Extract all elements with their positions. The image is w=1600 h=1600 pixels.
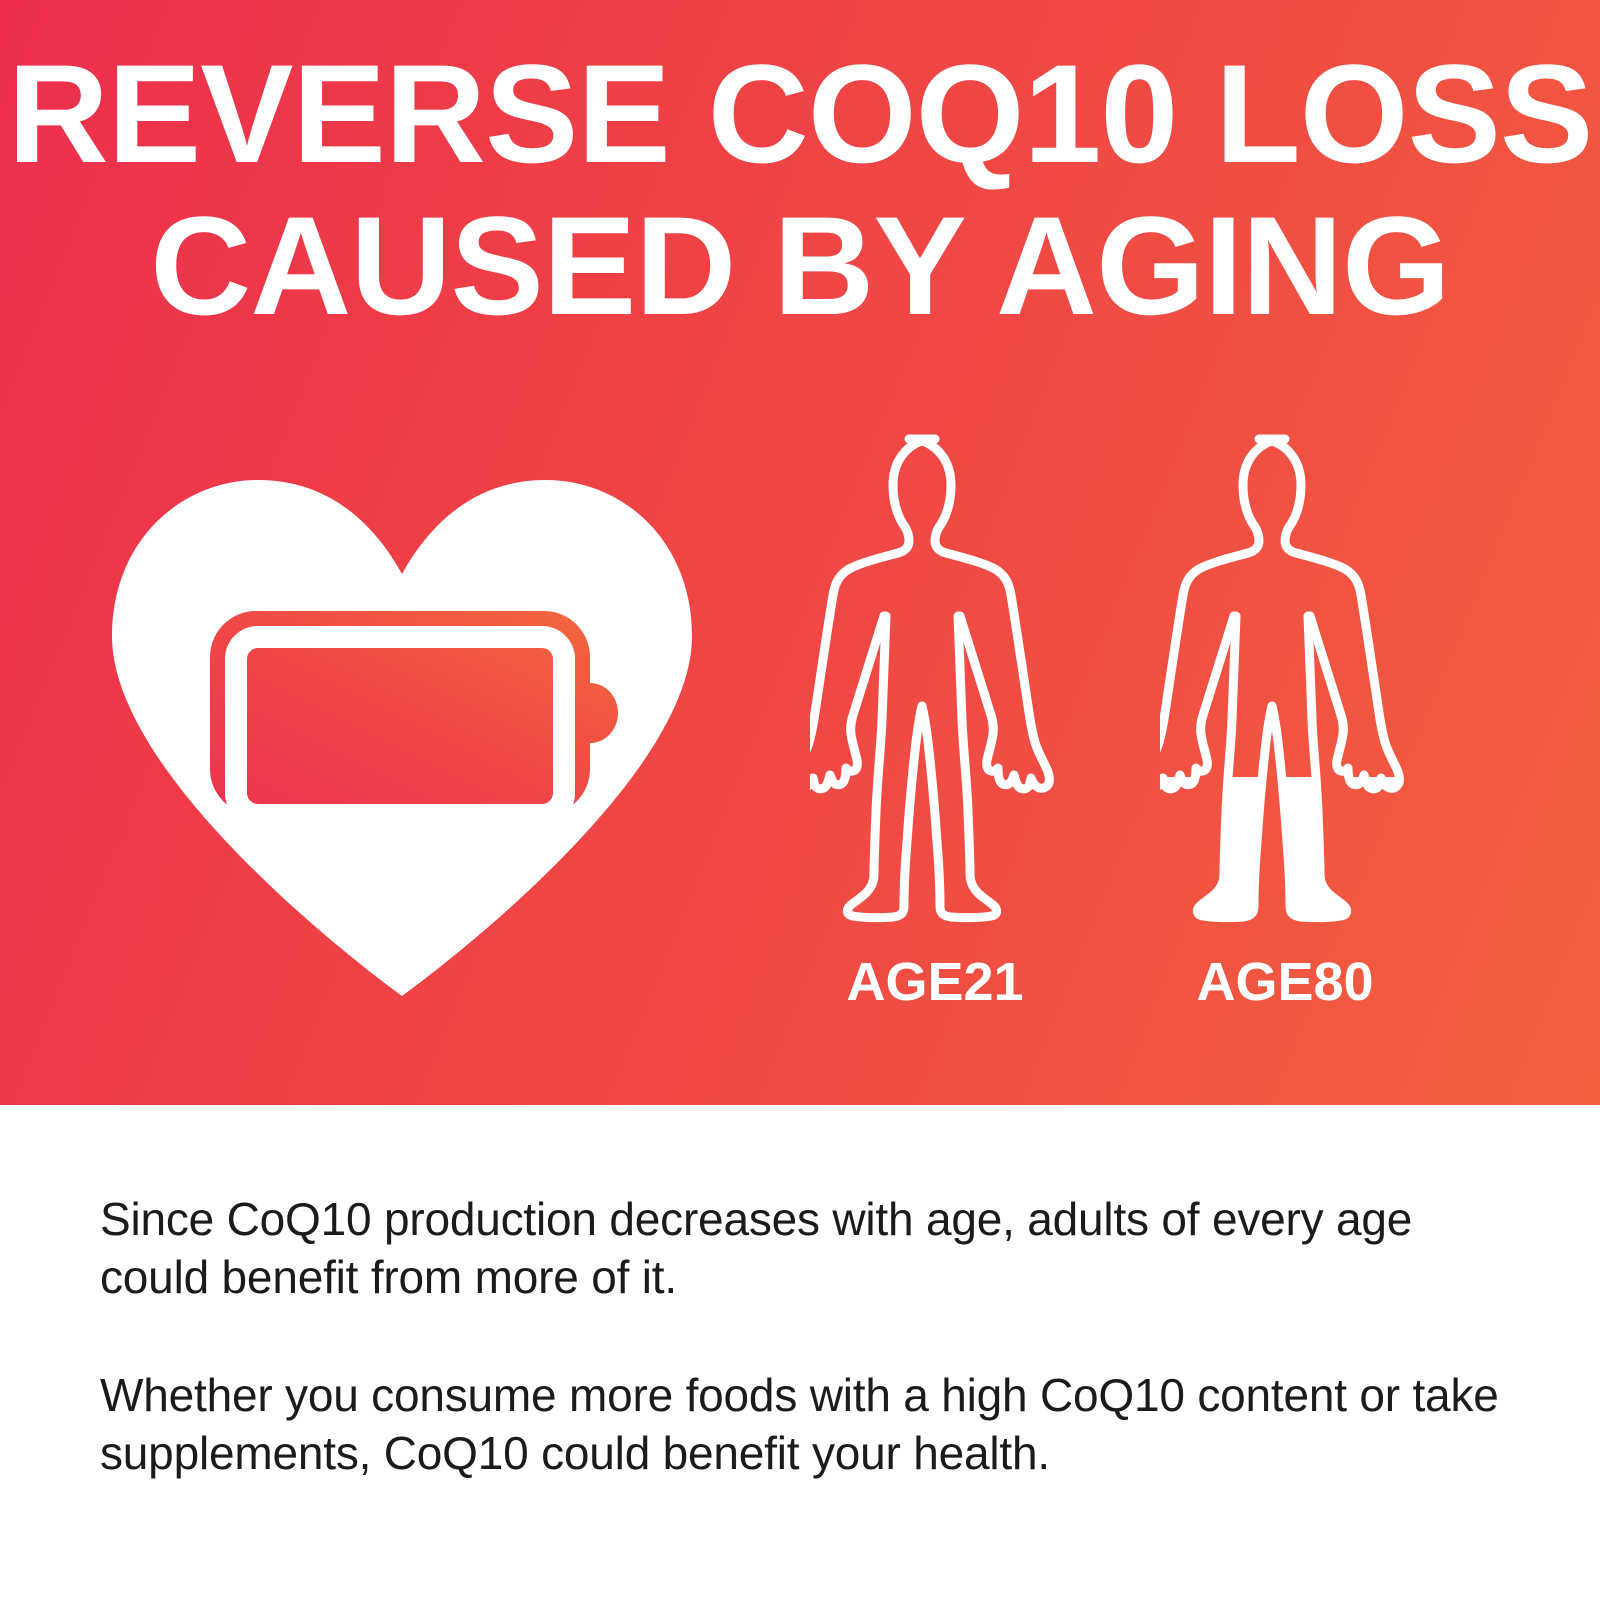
body-paragraph-1: Since CoQ10 production decreases with ag… xyxy=(100,1190,1512,1306)
figure-label-age80: AGE80 xyxy=(1160,952,1410,1012)
figure-age80 xyxy=(1160,425,1410,945)
infographic-poster: REVERSE COQ10 LOSS CAUSED BY AGING xyxy=(0,0,1600,1600)
body-figures-group xyxy=(780,425,1460,955)
title-line-2: CAUSED BY AGING xyxy=(0,190,1600,342)
body-copy: Since CoQ10 production decreases with ag… xyxy=(100,1190,1512,1482)
body-paragraph-2: Whether you consume more foods with a hi… xyxy=(100,1366,1512,1482)
battery-icon xyxy=(210,611,618,815)
page-title: REVERSE COQ10 LOSS CAUSED BY AGING xyxy=(0,38,1600,342)
heart-with-battery-icon xyxy=(96,470,708,996)
body-outline-age80 xyxy=(1160,439,1399,918)
figure-labels-group: AGE21 AGE80 xyxy=(780,952,1460,1022)
coq10-depletion-fill-age80 xyxy=(1160,439,1399,918)
body-outline-age21 xyxy=(810,439,1049,918)
title-line-1: REVERSE COQ10 LOSS xyxy=(0,38,1600,190)
hero-panel: REVERSE COQ10 LOSS CAUSED BY AGING xyxy=(0,0,1600,1105)
figure-age21 xyxy=(810,425,1060,945)
figure-label-age21: AGE21 xyxy=(810,952,1060,1012)
